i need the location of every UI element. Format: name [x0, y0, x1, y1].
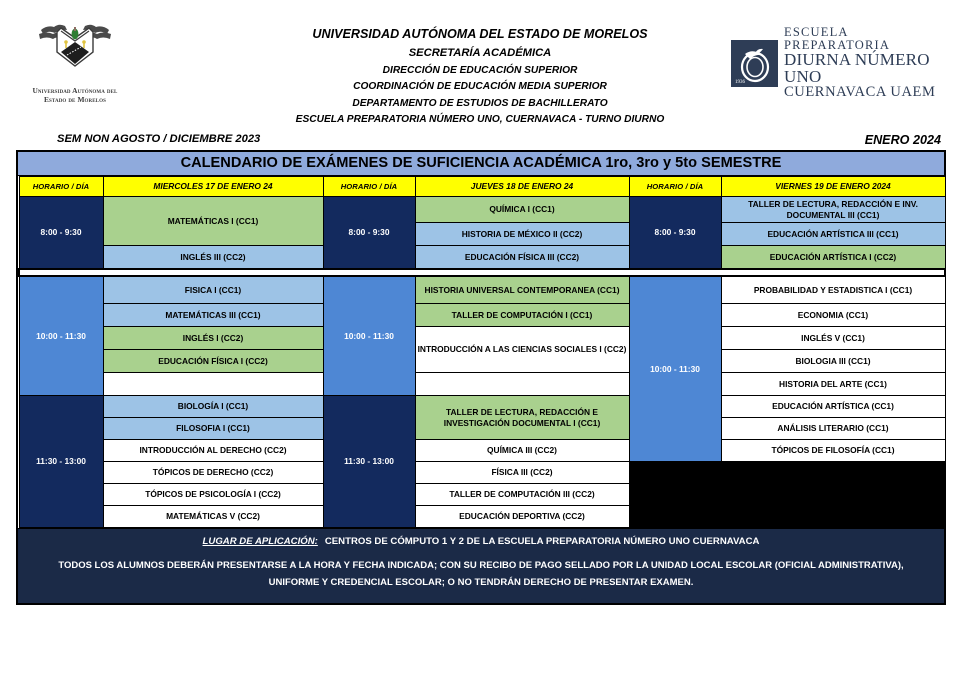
exam-cell: INGLÉS I (CC2) — [103, 327, 323, 350]
footer-lugar-label: LUGAR DE APLICACIÓN: — [203, 536, 318, 547]
time-cell-block3-col1: 11:30 - 13:00 — [19, 396, 103, 528]
exam-cell: QUÍMICA III (CC2) — [415, 440, 629, 462]
exam-cell: BIOLOGÍA I (CC1) — [103, 396, 323, 418]
time-cell-friday: 10:00 - 11:30 — [629, 276, 721, 462]
exam-cell: EDUCACIÓN FÍSICA I (CC2) — [103, 350, 323, 373]
calendar-table: HORARIO / DÍA MIERCOLES 17 DE ENERO 24 H… — [18, 176, 946, 528]
exam-cell: INTRODUCCIÓN A LAS CIENCIAS SOCIALES I (… — [415, 327, 629, 373]
exam-cell: INGLÉS V (CC1) — [721, 327, 945, 350]
col-header-day-2: JUEVES 18 DE ENERO 24 — [415, 177, 629, 197]
institution-line-1: UNIVERSIDAD AUTÓNOMA DEL ESTADO DE MOREL… — [180, 24, 780, 44]
exam-cell: TALLER DE LECTURA, REDACCIÓN E INV. DOCU… — [721, 197, 945, 223]
table-header-row: HORARIO / DÍA MIERCOLES 17 DE ENERO 24 H… — [19, 177, 945, 197]
svg-text:1936: 1936 — [735, 80, 746, 85]
document-header: Universidad Autónoma del Estado de Morel… — [0, 0, 959, 140]
exam-cell: INGLÉS III (CC2) — [103, 246, 323, 270]
time-cell-block2-col1: 10:00 - 11:30 — [19, 276, 103, 396]
col-header-horario-3: HORARIO / DÍA — [629, 177, 721, 197]
exam-cell: INTRODUCCIÓN AL DERECHO (CC2) — [103, 440, 323, 462]
table-row: 8:00 - 9:30 MATEMÁTICAS I (CC1) 8:00 - 9… — [19, 197, 945, 223]
institution-line-3: DIRECCIÓN DE EDUCACIÓN SUPERIOR — [180, 63, 780, 80]
blank-black-area — [629, 462, 945, 528]
exam-cell: HISTORIA DE MÉXICO II (CC2) — [415, 223, 629, 246]
institution-title-block: UNIVERSIDAD AUTÓNOMA DEL ESTADO DE MOREL… — [180, 24, 780, 129]
prepa-logo-line-2: DIURNA NÚMERO UNO — [784, 51, 946, 85]
time-cell-block1-col3: 8:00 - 9:30 — [629, 197, 721, 270]
calendar-grid: CALENDARIO DE EXÁMENES DE SUFICIENCIA AC… — [16, 150, 946, 605]
col-header-day-1: MIERCOLES 17 DE ENERO 24 — [103, 177, 323, 197]
exam-cell: EDUCACIÓN ARTÍSTICA III (CC1) — [721, 223, 945, 246]
exam-cell: FÍSICA III (CC2) — [415, 462, 629, 484]
footer-notice: TODOS LOS ALUMNOS DEBERÁN PRESENTARSE A … — [32, 558, 930, 591]
institution-line-5: DEPARTAMENTO DE ESTUDIOS DE BACHILLERATO — [180, 96, 780, 113]
exam-cell: QUÍMICA I (CC1) — [415, 197, 629, 223]
exam-cell: TÓPICOS DE DERECHO (CC2) — [103, 462, 323, 484]
table-row: 10:00 - 11:30 FISICA I (CC1) 10:00 - 11:… — [19, 276, 945, 304]
exam-cell: FILOSOFIA I (CC1) — [103, 418, 323, 440]
exam-cell: EDUCACIÓN ARTÍSTICA (CC1) — [721, 396, 945, 418]
exam-cell: MATEMÁTICAS V (CC2) — [103, 506, 323, 528]
table-row: INGLÉS I (CC2) INTRODUCCIÓN A LAS CIENCI… — [19, 327, 945, 350]
prepa-logo-wordmark: ESCUELA PREPARATORIA DIURNA NÚMERO UNO C… — [784, 26, 946, 100]
exam-cell: TÓPICOS DE FILOSOFÍA (CC1) — [721, 440, 945, 462]
semester-label: SEM NON AGOSTO / DICIEMBRE 2023 — [57, 133, 260, 145]
footer-location-line: LUGAR DE APLICACIÓN:CENTROS DE CÓMPUTO 1… — [32, 536, 930, 547]
month-label: ENERO 2024 — [865, 133, 941, 147]
time-cell-block2-col2: 10:00 - 11:30 — [323, 276, 415, 396]
exam-cell: ANÁLISIS LITERARIO (CC1) — [721, 418, 945, 440]
prepa-diurna-logo: 1936 ESCUELA PREPARATORIA DIURNA NÚMERO … — [731, 38, 946, 88]
uaem-logo-caption-line1: Universidad Autónoma del — [18, 86, 132, 95]
exam-cell: TÓPICOS DE PSICOLOGÍA I (CC2) — [103, 484, 323, 506]
exam-cell: HISTORIA DEL ARTE (CC1) — [721, 373, 945, 396]
exam-cell: HISTORIA UNIVERSAL CONTEMPORANEA (CC1) — [415, 276, 629, 304]
uaem-crest-icon — [37, 22, 113, 84]
exam-cell-empty — [103, 373, 323, 396]
institution-line-6: ESCUELA PREPARATORIA NÚMERO UNO, CUERNAV… — [180, 112, 780, 129]
table-row: MATEMÁTICAS III (CC1) TALLER DE COMPUTAC… — [19, 304, 945, 327]
calendar-page: Universidad Autónoma del Estado de Morel… — [0, 0, 959, 689]
footer-lugar-value: CENTROS DE CÓMPUTO 1 Y 2 DE LA ESCUELA P… — [325, 536, 760, 547]
uaem-shield-logo: Universidad Autónoma del Estado de Morel… — [18, 22, 132, 117]
table-row: HISTORIA DEL ARTE (CC1) — [19, 373, 945, 396]
exam-cell: MATEMÁTICAS III (CC1) — [103, 304, 323, 327]
prepa-emblem-icon: 1936 — [731, 40, 778, 87]
exam-cell: BIOLOGIA III (CC1) — [721, 350, 945, 373]
table-row: INTRODUCCIÓN AL DERECHO (CC2) QUÍMICA II… — [19, 440, 945, 462]
col-header-day-3: VIERNES 19 DE ENERO 2024 — [721, 177, 945, 197]
table-row: 11:30 - 13:00 BIOLOGÍA I (CC1) 11:30 - 1… — [19, 396, 945, 418]
institution-line-4: COORDINACIÓN DE EDUCACIÓN MEDIA SUPERIOR — [180, 79, 780, 96]
table-row: INGLÉS III (CC2) EDUCACIÓN FÍSICA III (C… — [19, 246, 945, 270]
uaem-logo-caption-line2: Estado de Morelos — [18, 95, 132, 104]
exam-cell: MATEMÁTICAS I (CC1) — [103, 197, 323, 246]
calendar-title: CALENDARIO DE EXÁMENES DE SUFICIENCIA AC… — [18, 152, 944, 176]
exam-cell: PROBABILIDAD Y ESTADISTICA I (CC1) — [721, 276, 945, 304]
exam-cell: TALLER DE COMPUTACIÓN III (CC2) — [415, 484, 629, 506]
exam-cell: FISICA I (CC1) — [103, 276, 323, 304]
exam-cell: TALLER DE LECTURA, REDACCIÓN E INVESTIGA… — [415, 396, 629, 440]
exam-cell: EDUCACIÓN DEPORTIVA (CC2) — [415, 506, 629, 528]
prepa-logo-line-1: ESCUELA PREPARATORIA — [784, 26, 946, 51]
calendar-footer: LUGAR DE APLICACIÓN:CENTROS DE CÓMPUTO 1… — [18, 528, 944, 603]
exam-cell: ECONOMIA (CC1) — [721, 304, 945, 327]
time-cell-block1-col1: 8:00 - 9:30 — [19, 197, 103, 270]
col-header-horario-1: HORARIO / DÍA — [19, 177, 103, 197]
time-cell-block3-col2: 11:30 - 13:00 — [323, 396, 415, 528]
col-header-horario-2: HORARIO / DÍA — [323, 177, 415, 197]
institution-line-2: SECRETARÍA ACADÉMICA — [180, 44, 780, 62]
exam-cell-empty — [415, 373, 629, 396]
exam-cell: EDUCACIÓN FÍSICA III (CC2) — [415, 246, 629, 270]
exam-cell: EDUCACIÓN ARTÍSTICA I (CC2) — [721, 246, 945, 270]
block-separator — [19, 269, 945, 276]
prepa-logo-line-3: CUERNAVACA UAEM — [784, 85, 946, 100]
time-cell-block1-col2: 8:00 - 9:30 — [323, 197, 415, 270]
exam-cell: TALLER DE COMPUTACIÓN I (CC1) — [415, 304, 629, 327]
table-row: TÓPICOS DE DERECHO (CC2) FÍSICA III (CC2… — [19, 462, 945, 484]
